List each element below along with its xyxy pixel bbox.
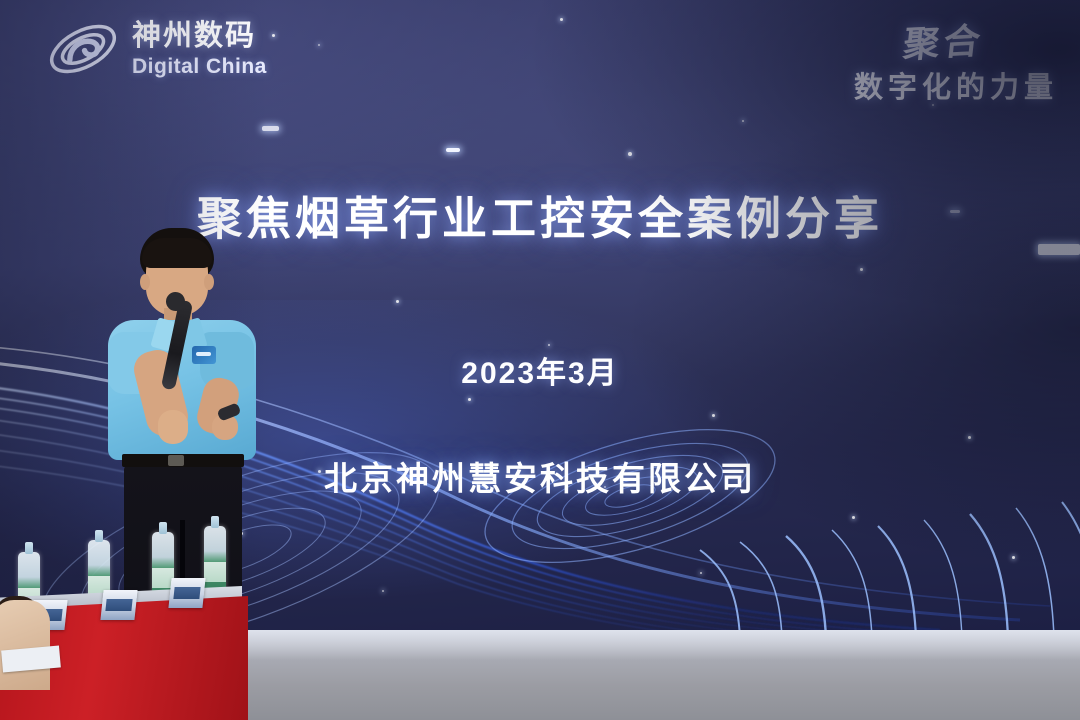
- presenter-belt-buckle: [168, 455, 184, 466]
- logo-name-cn: 神州数码: [132, 22, 267, 51]
- logo-name-en: Digital China: [132, 56, 267, 77]
- presenter-hair-front: [142, 238, 212, 268]
- slogan-calligraphy: 聚合: [901, 12, 987, 68]
- polo-logo-badge-icon: [192, 346, 216, 364]
- water-bottle: [204, 526, 226, 592]
- slogan-subtitle: 数字化的力量: [854, 64, 1058, 106]
- digital-china-swirl-icon: [44, 18, 122, 80]
- presenter-ear-right: [204, 274, 214, 290]
- digital-china-logo: 神州数码 Digital China: [44, 18, 267, 80]
- event-slogan: 聚合 数字化的力量: [854, 14, 1058, 106]
- conference-stage-photo: 神州数码 Digital China 聚合 数字化的力量 聚焦烟草行业工控安全案…: [0, 0, 1080, 720]
- attendee-seated: [0, 600, 50, 690]
- presenter-hand-left: [158, 410, 188, 444]
- presenter-ear-left: [140, 274, 150, 290]
- name-card: [100, 590, 137, 620]
- name-card: [168, 578, 205, 608]
